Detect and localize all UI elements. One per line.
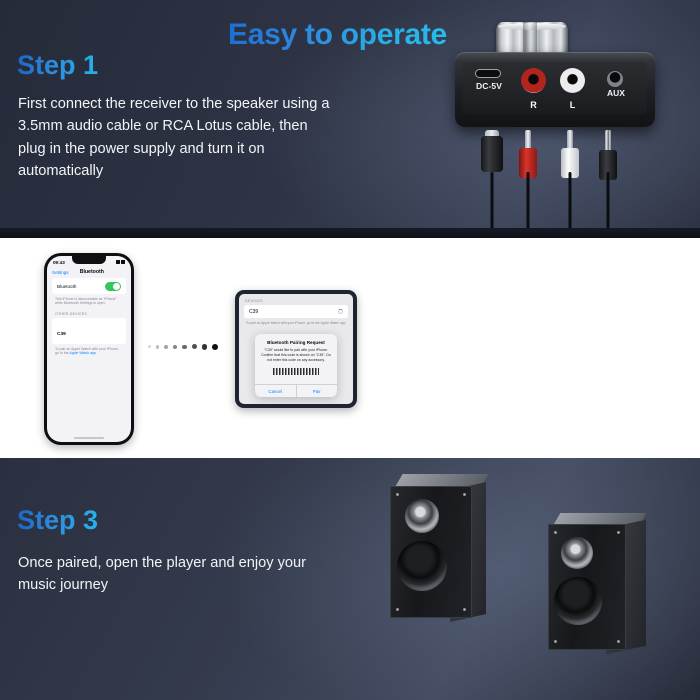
aux-label: AUX <box>599 88 633 98</box>
rca-left-jack-icon <box>560 68 585 93</box>
pairing-code <box>273 368 319 375</box>
tweeter-icon <box>405 499 439 533</box>
bluetooth-toggle-row[interactable]: Bluetooth <box>52 278 126 294</box>
devices-section-header: OTHER DEVICES <box>55 312 123 316</box>
rca-left-label: L <box>560 100 585 110</box>
tablet-device-row-c39[interactable]: C39 <box>244 305 348 318</box>
speaker-right-front <box>548 524 626 650</box>
panel-step-1: Easy to operate Step 1 First connect the… <box>0 0 700 238</box>
rca-right-label: R <box>521 100 546 110</box>
page-title-bluetooth: Bluetooth <box>72 269 112 275</box>
speaker-left-front <box>390 486 472 618</box>
pairing-request-dialog: Bluetooth Pairing Request "C39" would li… <box>255 334 337 397</box>
product-infographic: Easy to operate Step 1 First connect the… <box>0 0 700 700</box>
connector-dots <box>148 344 218 350</box>
battery-icon <box>121 260 125 263</box>
step-3-heading: Step 3 <box>17 505 98 536</box>
bluetooth-toggle[interactable] <box>105 282 121 291</box>
usb-c-port-icon <box>475 69 501 78</box>
panel-step-2: 09:43 Settings Bluetooth Bluetooth This … <box>0 238 700 458</box>
tablet-pairing-dialog-screen: DEVICES C39 To pair an Apple Watch with … <box>235 290 357 408</box>
tablet-devices-header: DEVICES <box>245 299 347 303</box>
woofer-icon <box>554 577 602 625</box>
step-1-heading: Step 1 <box>17 50 98 81</box>
rca-right-jack-icon <box>521 68 546 93</box>
device-name: C39 <box>57 332 66 337</box>
bluetooth-label: Bluetooth <box>57 284 76 289</box>
discoverable-note: This iPhone is discoverable as "iPhone" … <box>55 297 123 307</box>
receiver-body: DC-5V R L AUX <box>455 52 655 127</box>
step-3-body: Once paired, open the player and enjoy y… <box>18 552 318 597</box>
receiver-port-panel: DC-5V R L AUX <box>463 62 647 114</box>
page-title: Easy to operate <box>228 18 447 52</box>
status-icons <box>116 260 126 263</box>
bluetooth-receiver-device: DC-5V R L AUX <box>455 22 655 212</box>
iphone-bluetooth-settings: 09:43 Settings Bluetooth Bluetooth This … <box>44 253 134 445</box>
tweeter-icon <box>561 537 593 569</box>
loading-spinner-icon <box>338 309 343 314</box>
pair-button[interactable]: Pair <box>296 385 338 397</box>
nav-bar: Settings Bluetooth <box>47 268 131 278</box>
aux-jack-icon <box>607 71 623 87</box>
phone-notch <box>72 256 106 264</box>
power-port-label: DC-5V <box>469 81 509 91</box>
back-to-settings-link[interactable]: Settings <box>52 270 69 275</box>
woofer-icon <box>397 541 447 591</box>
device-row-c39[interactable]: C39 <box>52 318 126 344</box>
tablet-device-name: C39 <box>249 309 258 315</box>
speaker-left <box>390 486 472 618</box>
step-1-body: First connect the receiver to the speake… <box>18 93 338 182</box>
apple-watch-note: To pair an Apple Watch with your iPhone,… <box>55 347 123 357</box>
home-indicator <box>74 437 104 439</box>
dialog-body: "C39" would like to pair with your iPhon… <box>261 348 331 363</box>
cable-set <box>455 130 655 238</box>
speaker-right <box>548 524 626 650</box>
tablet-watch-note: To pair an Apple Watch with your iPhone,… <box>246 321 346 326</box>
cancel-button[interactable]: Cancel <box>255 385 296 397</box>
wifi-icon <box>116 260 120 263</box>
status-time: 09:43 <box>53 260 65 265</box>
dialog-title: Bluetooth Pairing Request <box>261 340 331 345</box>
apple-watch-app-link[interactable]: Apple Watch app <box>69 351 96 355</box>
